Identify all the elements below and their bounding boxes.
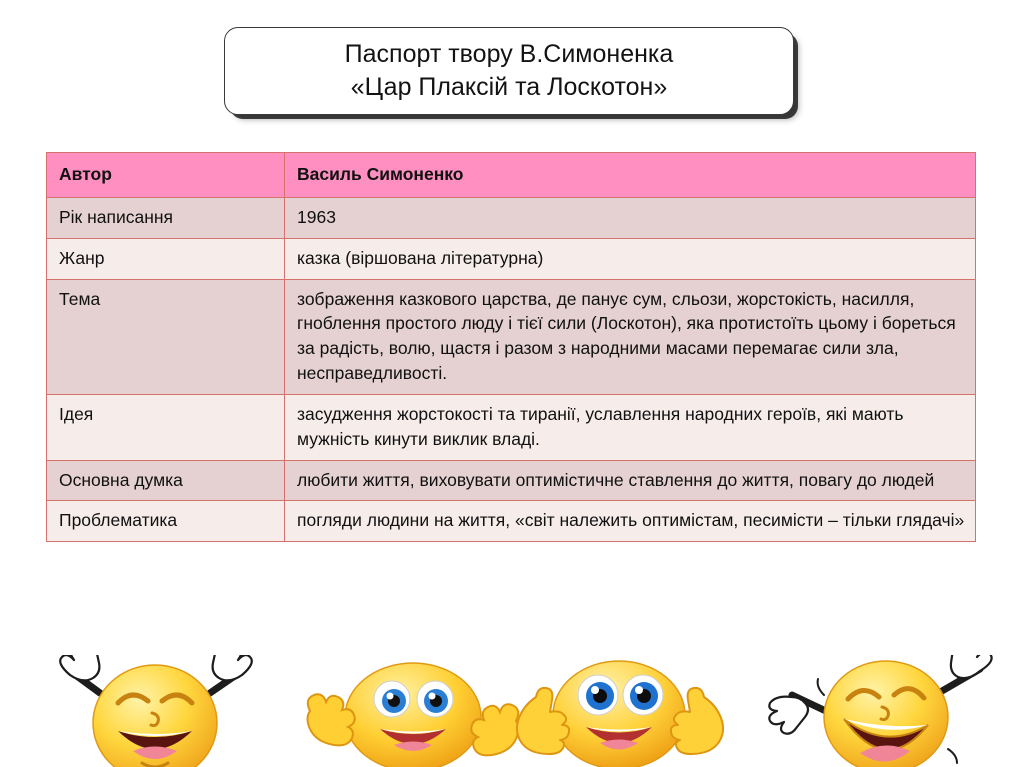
row-label-cell: Жанр	[47, 238, 285, 279]
smiley-laughing-arms-up-icon	[30, 655, 280, 767]
row-label-cell: Рік написання	[47, 197, 285, 238]
slide-title-line-2: «Цар Плаксій та Лоскотон»	[351, 71, 668, 104]
slide-title-line-1: Паспорт твору В.Симоненка	[345, 38, 674, 71]
row-label-cell: Тема	[47, 279, 285, 394]
row-value-cell: Василь Симоненко	[285, 153, 976, 198]
row-value-cell: зображення казкового царства, де панує с…	[285, 279, 976, 394]
table-row: Жанр казка (віршована літературна)	[47, 238, 976, 279]
table-row: Основна думка любити життя, виховувати о…	[47, 460, 976, 501]
row-label-cell: Проблематика	[47, 501, 285, 542]
smiley-laughing-arms-spread-icon	[752, 655, 1018, 767]
row-value-cell: казка (віршована літературна)	[285, 238, 976, 279]
smiley-decoration-strip	[0, 655, 1022, 767]
table-row: Рік написання 1963	[47, 197, 976, 238]
row-value-cell: засудження жорстокості та тиранії, услав…	[285, 394, 976, 460]
row-label-cell: Основна думка	[47, 460, 285, 501]
row-value-cell: 1963	[285, 197, 976, 238]
row-value-cell: любити життя, виховувати оптимістичне ст…	[285, 460, 976, 501]
table-row: Автор Василь Симоненко	[47, 153, 976, 198]
table-row: Ідея засудження жорстокості та тиранії, …	[47, 394, 976, 460]
passport-table: Автор Василь Симоненко Рік написання 196…	[46, 152, 976, 542]
slide-title-box: Паспорт твору В.Симоненка «Цар Плаксій т…	[224, 27, 794, 115]
smiley-thumbs-up-icon	[488, 657, 750, 767]
table-row: Тема зображення казкового царства, де па…	[47, 279, 976, 394]
table-row: Проблематика погляди людини на життя, «с…	[47, 501, 976, 542]
row-label-cell: Ідея	[47, 394, 285, 460]
row-value-cell: погляди людини на життя, «світ належить …	[285, 501, 976, 542]
passport-table-body: Автор Василь Симоненко Рік написання 196…	[47, 153, 976, 542]
row-label-cell: Автор	[47, 153, 285, 198]
